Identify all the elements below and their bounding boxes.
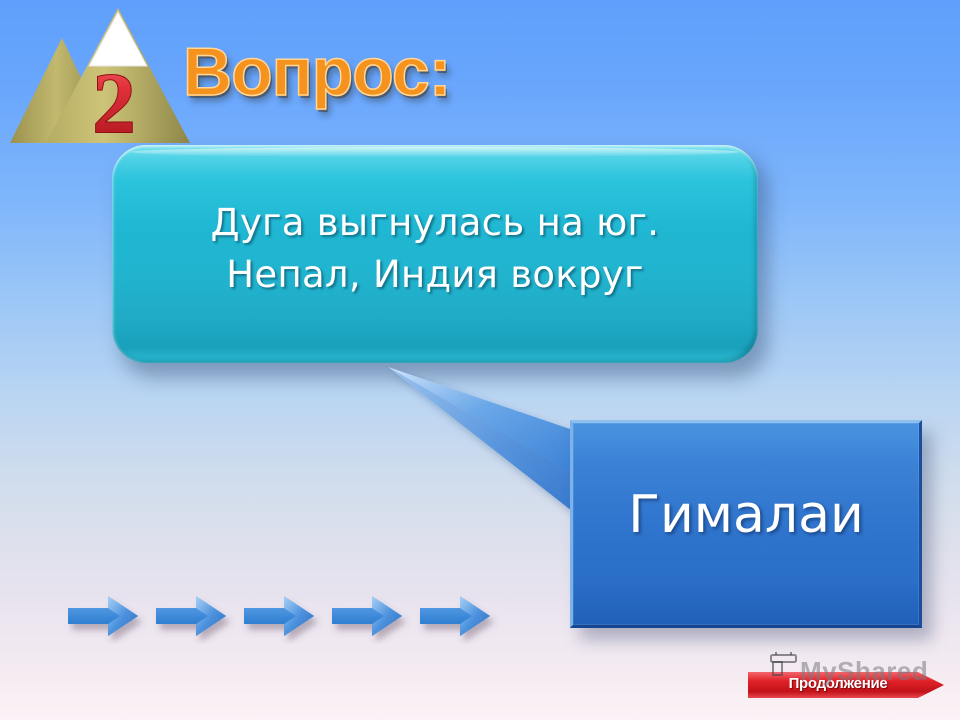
arrow-5 bbox=[420, 596, 490, 636]
arrow-4 bbox=[332, 596, 402, 636]
answer-box: Гималаи bbox=[570, 420, 922, 628]
answer-text: Гималаи bbox=[573, 485, 919, 545]
continue-button[interactable]: Продолжение bbox=[748, 668, 944, 702]
question-text: Дуга выгнулась на юг. Непал, Индия вокру… bbox=[112, 197, 758, 301]
slide-canvas: 2 Вопрос: Дуга выгнулась на юг. Непал, И… bbox=[0, 0, 960, 720]
page-title: Вопрос: bbox=[183, 38, 450, 106]
arrow-3 bbox=[244, 596, 314, 636]
mountain-logo: 2 bbox=[0, 0, 200, 148]
arrow-1 bbox=[68, 596, 138, 636]
continue-button-label[interactable]: Продолжение bbox=[758, 675, 918, 692]
question-box: Дуга выгнулась на юг. Непал, Индия вокру… bbox=[112, 145, 758, 363]
badge-number-2: 2 bbox=[93, 55, 136, 148]
arrow-row bbox=[68, 588, 508, 644]
arrow-2 bbox=[156, 596, 226, 636]
